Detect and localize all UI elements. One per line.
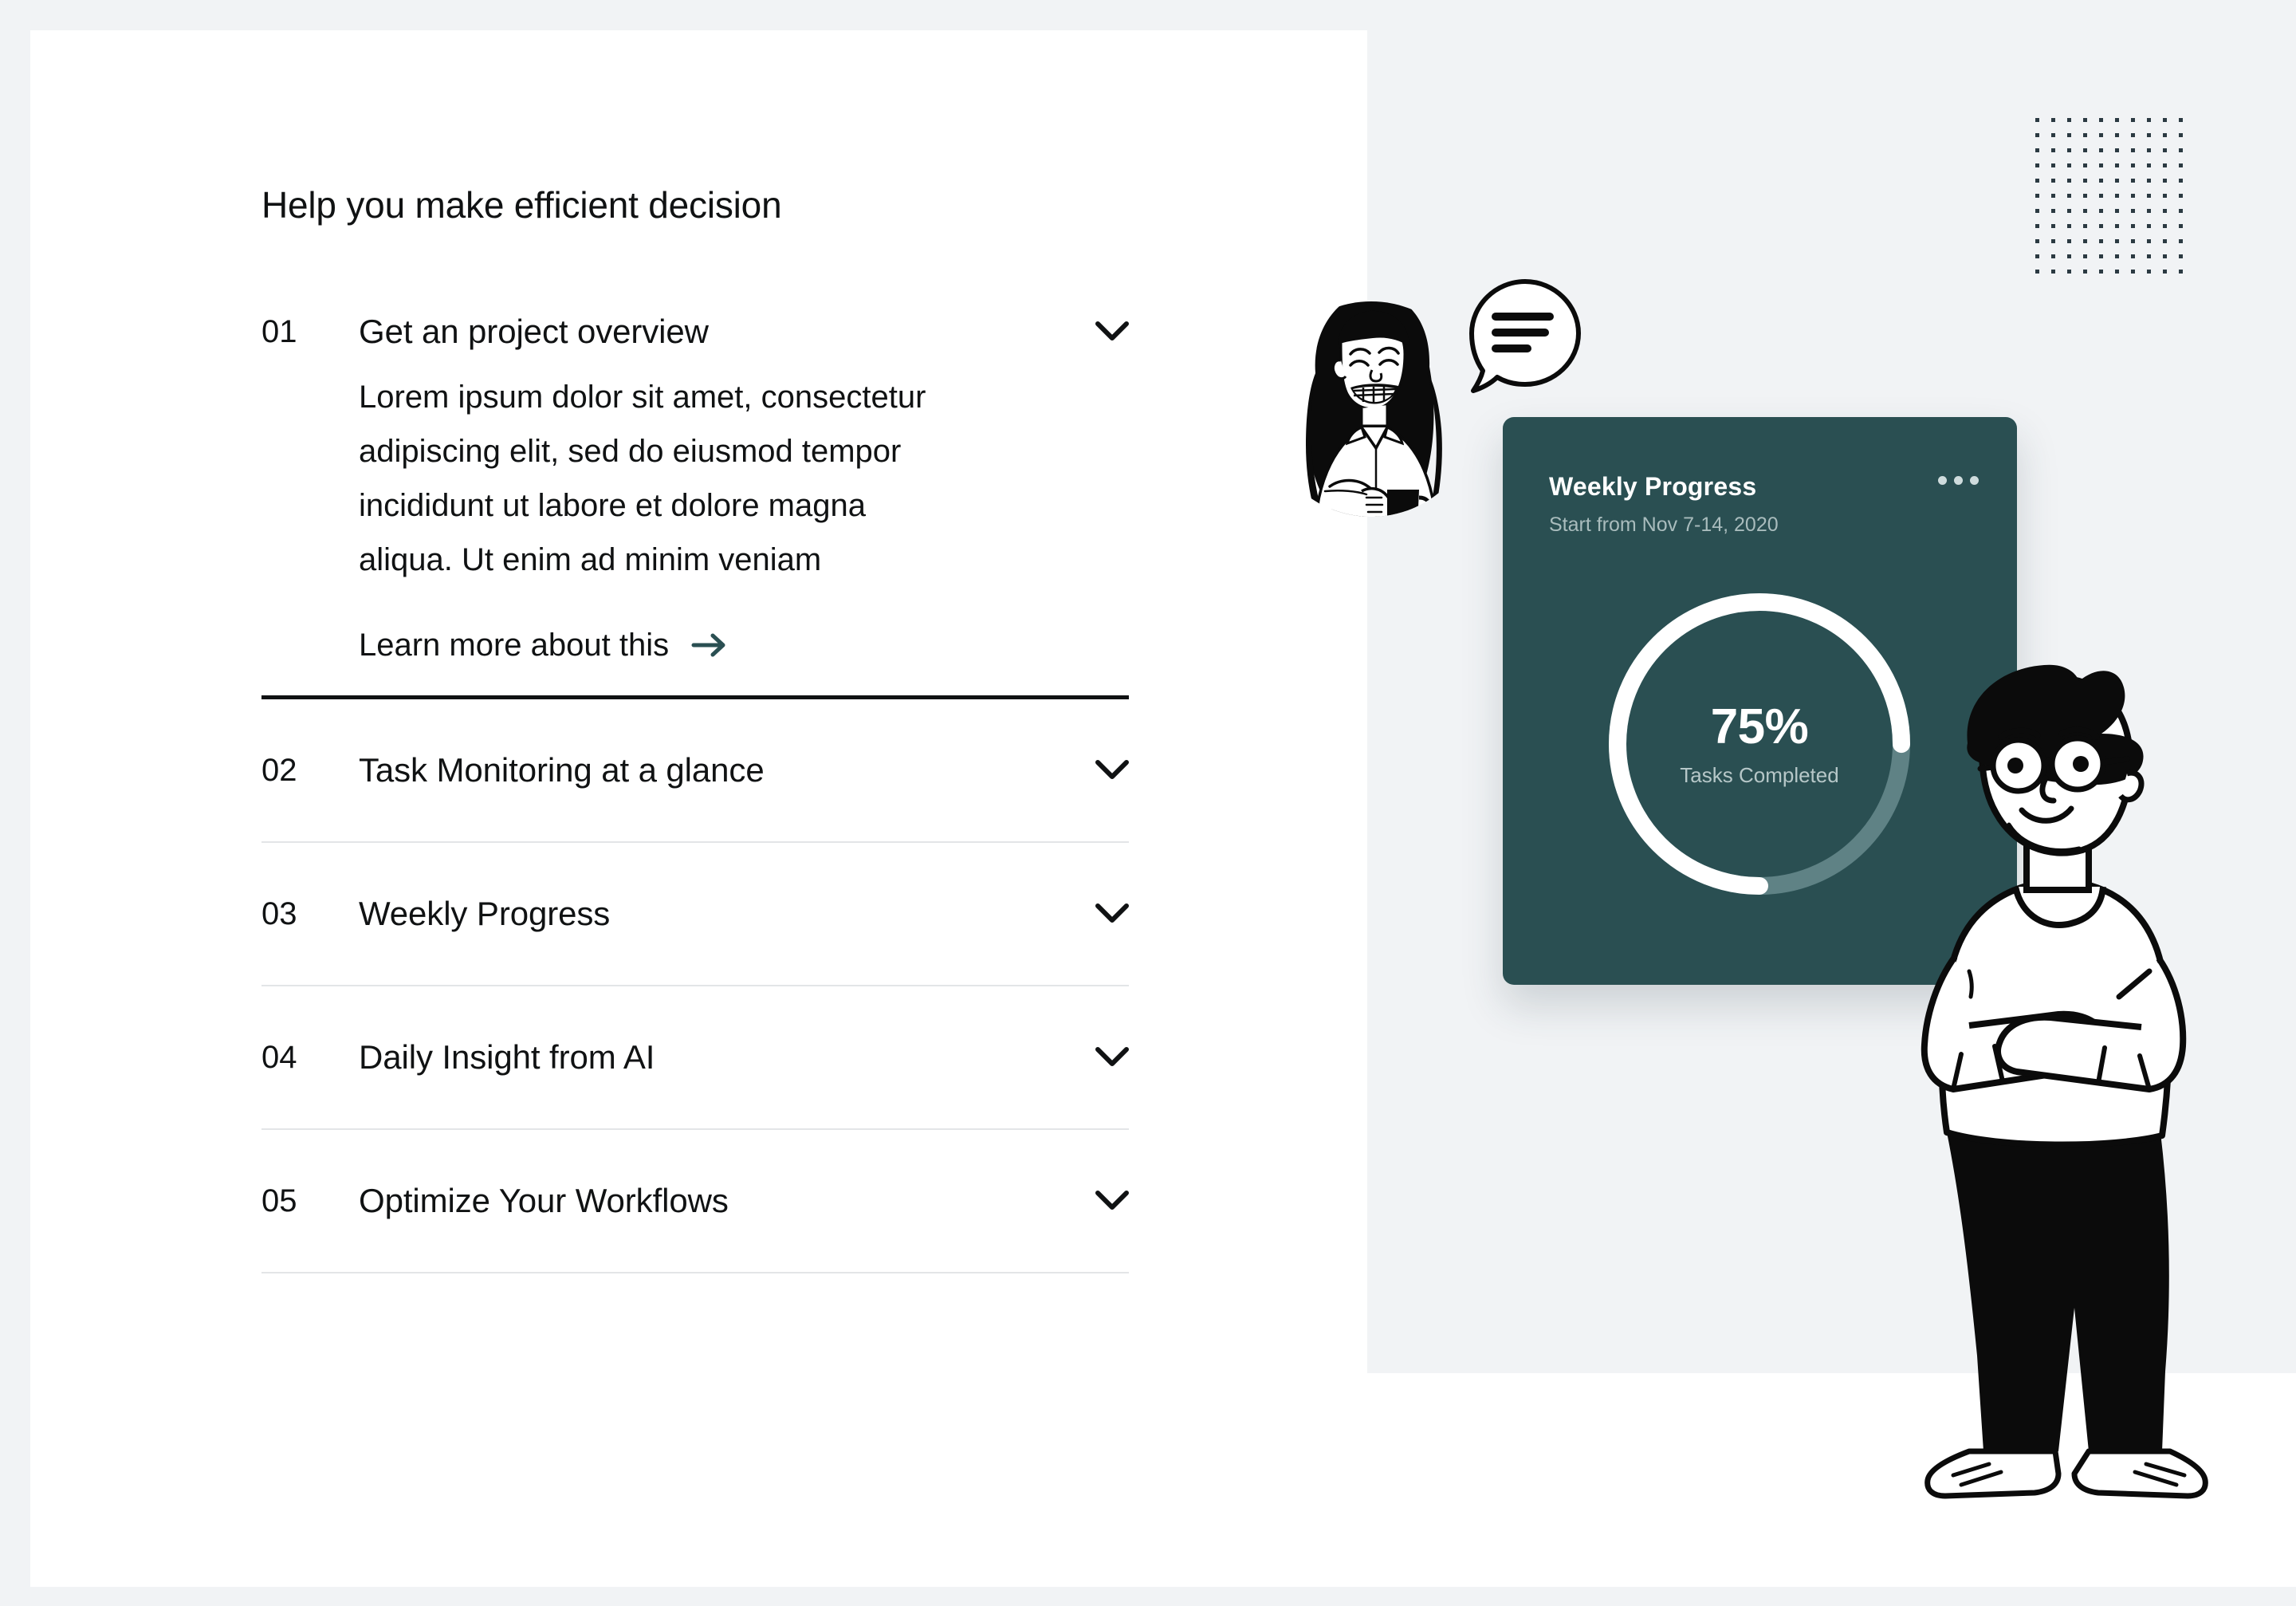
accordion-item-02: 02 Task Monitoring at a glance — [261, 699, 1129, 843]
accordion-paragraph: Lorem ipsum dolor sit amet, consectetur … — [359, 370, 965, 587]
message-bubble-icon — [1465, 275, 1585, 399]
learn-more-link[interactable]: Learn more about this — [359, 625, 728, 665]
chevron-down-icon[interactable] — [1081, 903, 1129, 924]
accordion-header-04[interactable]: 04 Daily Insight from AI — [261, 986, 1129, 1128]
accordion-body-01: Lorem ipsum dolor sit amet, consectetur … — [261, 370, 1129, 675]
accordion-item-05: 05 Optimize Your Workflows — [261, 1130, 1129, 1273]
card-subtitle: Start from Nov 7-14, 2020 — [1549, 511, 1779, 538]
accordion-number: 03 — [261, 895, 359, 933]
accordion-label: Task Monitoring at a glance — [359, 750, 1081, 791]
learn-more-label: Learn more about this — [359, 625, 669, 665]
accordion-label: Get an project overview — [359, 311, 1081, 352]
accordion-header-02[interactable]: 02 Task Monitoring at a glance — [261, 699, 1129, 841]
chevron-down-icon[interactable] — [1081, 760, 1129, 781]
accordion-number: 05 — [261, 1182, 359, 1220]
progress-percent: 75% — [1711, 699, 1809, 755]
woman-with-mug-illustration — [1268, 278, 1475, 541]
accordion-divider — [261, 1272, 1129, 1273]
accordion-header-01[interactable]: 01 Get an project overview — [261, 293, 1129, 370]
accordion-item-04: 04 Daily Insight from AI — [261, 986, 1129, 1130]
accordion-label: Optimize Your Workflows — [359, 1180, 1081, 1222]
accordion-header-03[interactable]: 03 Weekly Progress — [261, 843, 1129, 985]
dot-grid-decoration — [2035, 118, 2192, 274]
accordion-header-05[interactable]: 05 Optimize Your Workflows — [261, 1130, 1129, 1272]
accordion-list: 01 Get an project overview Lorem ipsum d… — [261, 293, 1129, 1273]
accordion-label: Daily Insight from AI — [359, 1037, 1081, 1078]
page-root: Help you make efficient decision 01 Get … — [0, 0, 2296, 1606]
accordion-item-01: 01 Get an project overview Lorem ipsum d… — [261, 293, 1129, 699]
ellipsis-horizontal-icon[interactable] — [1938, 476, 1979, 485]
accordion-number: 04 — [261, 1038, 359, 1077]
person-with-beret-illustration — [1850, 654, 2248, 1527]
accordion-number: 02 — [261, 751, 359, 789]
chevron-down-icon[interactable] — [1081, 1047, 1129, 1068]
accordion-label: Weekly Progress — [359, 893, 1081, 935]
chevron-down-icon[interactable] — [1081, 1191, 1129, 1211]
accordion-item-03: 03 Weekly Progress — [261, 843, 1129, 986]
accordion-number: 01 — [261, 313, 359, 351]
chevron-down-icon[interactable] — [1081, 321, 1129, 342]
page-title: Help you make efficient decision — [261, 182, 781, 228]
card-title: Weekly Progress — [1549, 470, 1756, 502]
arrow-right-icon — [691, 632, 728, 659]
progress-caption: Tasks Completed — [1680, 762, 1838, 789]
